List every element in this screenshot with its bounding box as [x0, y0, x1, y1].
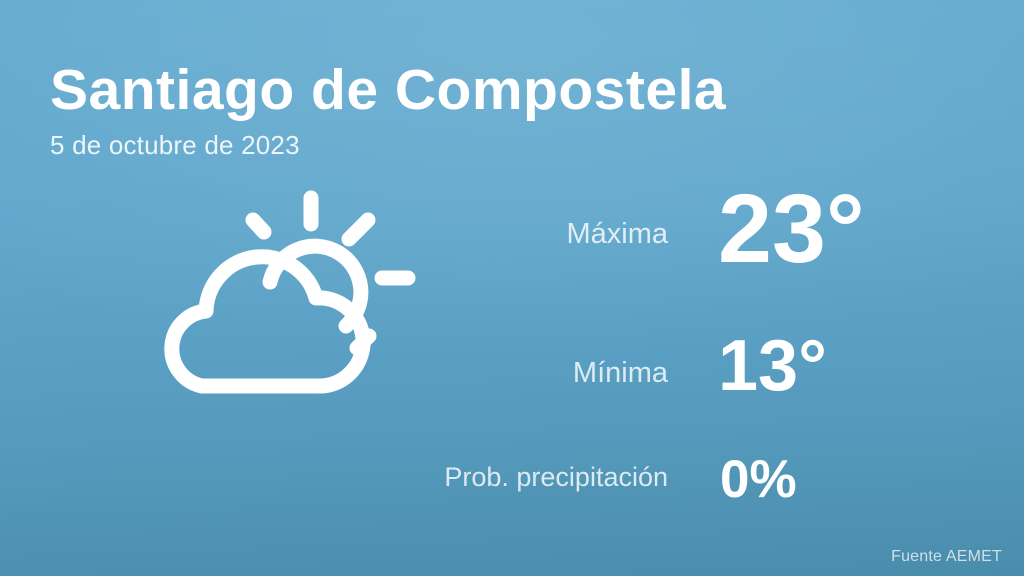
minima-value: 13°	[718, 330, 827, 402]
partly-cloudy-icon	[150, 186, 426, 410]
precipitation-label: Prob. precipitación	[0, 462, 668, 493]
maxima-value: 23°	[718, 180, 865, 277]
precipitation-value: 0%	[720, 453, 797, 506]
forecast-date: 5 de octubre de 2023	[50, 130, 726, 161]
header: Santiago de Compostela 5 de octubre de 2…	[50, 62, 726, 161]
weather-card: Santiago de Compostela 5 de octubre de 2…	[0, 0, 1024, 576]
source-credit: Fuente AEMET	[891, 548, 1002, 566]
page-title: Santiago de Compostela	[50, 62, 726, 119]
